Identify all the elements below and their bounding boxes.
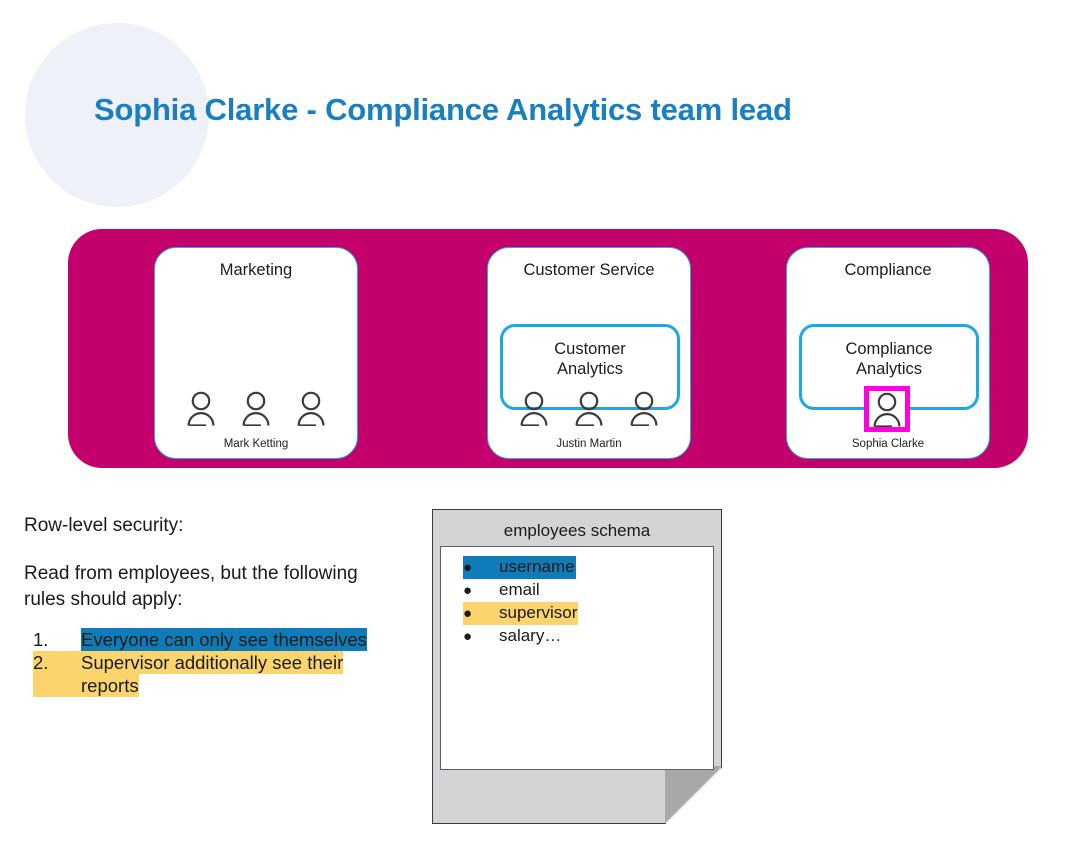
list-item: ● username: [463, 556, 576, 579]
list-item: ● supervisor: [463, 602, 578, 625]
list-item: ● salary…: [463, 625, 562, 648]
person-icon: [627, 390, 661, 426]
rule-text: Everyone can only see themselves: [81, 628, 393, 651]
schema-field-name: salary…: [499, 625, 562, 647]
bullet-icon: ●: [463, 557, 499, 579]
department-title: Customer Service: [488, 261, 690, 280]
bullet-icon: ●: [463, 626, 499, 648]
list-item: 1. Everyone can only see themselves: [33, 628, 393, 651]
rule-text: Supervisor additionally see their report…: [81, 651, 393, 697]
selected-person-highlight[interactable]: [864, 386, 910, 432]
document-title: employees schema: [432, 521, 722, 541]
document-content-area: ● username ● email ● supervisor ● salary…: [440, 546, 714, 770]
person-icon: [184, 390, 218, 426]
person-icon: [239, 390, 273, 426]
department-card-marketing[interactable]: Marketing Mark Ketting: [154, 247, 358, 459]
schema-field-name: supervisor: [499, 602, 578, 624]
department-title: Marketing: [155, 261, 357, 280]
list-item: 2. Supervisor additionally see their rep…: [33, 651, 393, 697]
schema-field-name: username: [499, 556, 576, 578]
department-person-name: Sophia Clarke: [787, 438, 989, 450]
analytics-team-label: Compliance Analytics: [802, 339, 976, 379]
people-row-customer-service: [487, 390, 691, 426]
person-icon: [294, 390, 328, 426]
list-item: ● email: [463, 579, 541, 602]
rls-paragraph: Read from employees, but the following r…: [24, 561, 384, 613]
rule-number: 1.: [33, 628, 81, 651]
rule-text-line: reports: [81, 674, 139, 697]
rls-rules-list: 1. Everyone can only see themselves 2. S…: [33, 628, 393, 697]
schema-field-list: ● username ● email ● supervisor ● salary…: [463, 556, 578, 648]
document-fold-corner: [665, 766, 722, 823]
person-icon: [572, 390, 606, 426]
bullet-icon: ●: [463, 603, 499, 625]
department-title: Compliance: [787, 261, 989, 280]
schema-field-name: email: [499, 579, 541, 601]
rule-text-line: Everyone can only see themselves: [81, 628, 367, 651]
slide-canvas: Sophia Clarke - Compliance Analytics tea…: [0, 0, 1068, 842]
bullet-icon: ●: [463, 580, 499, 602]
person-icon: [517, 390, 551, 426]
department-person-name: Justin Martin: [488, 438, 690, 450]
rls-heading: Row-level security:: [24, 515, 183, 537]
page-title: Sophia Clarke - Compliance Analytics tea…: [94, 92, 792, 128]
rule-number: 2.: [33, 651, 81, 697]
department-card-customer-service[interactable]: Customer Service Customer Analytics Just…: [487, 247, 691, 459]
people-row-marketing: [154, 390, 358, 426]
analytics-team-label: Customer Analytics: [503, 339, 677, 379]
department-person-name: Mark Ketting: [155, 438, 357, 450]
person-icon: [870, 391, 904, 427]
employees-schema-document[interactable]: employees schema ● username ● email ● su…: [432, 509, 722, 824]
rule-text-line: Supervisor additionally see their: [81, 651, 343, 674]
